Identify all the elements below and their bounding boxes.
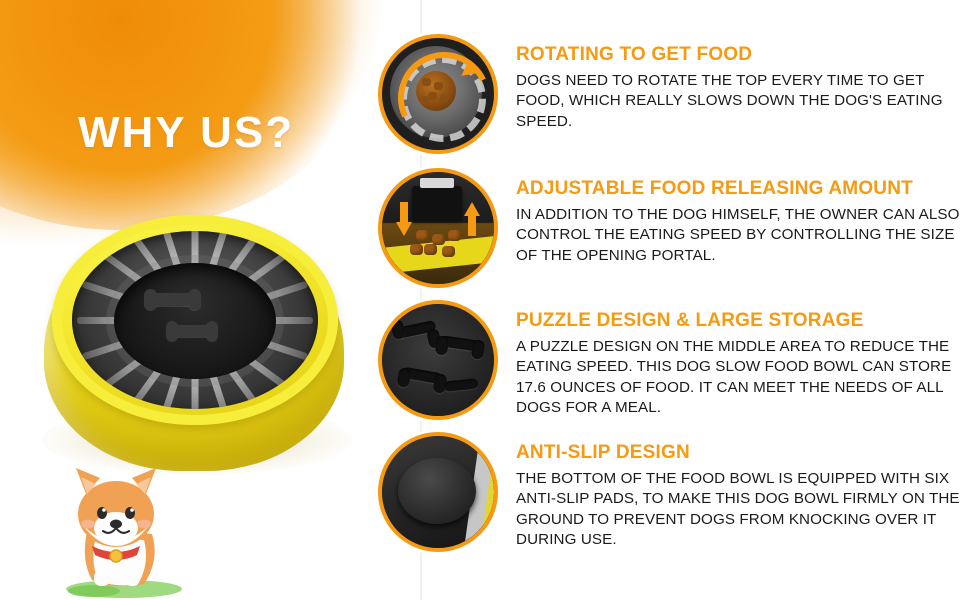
feature-body: THE BOTTOM OF THE FOOD BOWL IS EQUIPPED …: [516, 469, 966, 550]
feature-title: ROTATING TO GET FOOD: [516, 44, 966, 66]
arrow-up-icon: [464, 202, 480, 236]
feature-row: ANTI-SLIP DESIGN THE BOTTOM OF THE FOOD …: [378, 432, 966, 552]
features-list: ROTATING TO GET FOOD DOGS NEED TO ROTATE…: [378, 24, 966, 584]
rotating-lid-icon: [378, 34, 498, 154]
anti-slip-pad-icon: [378, 432, 498, 552]
feature-text: ADJUSTABLE FOOD RELEASING AMOUNT IN ADDI…: [498, 168, 966, 266]
feature-title: PUZZLE DESIGN & LARGE STORAGE: [516, 310, 966, 332]
bowl-opening: [114, 263, 276, 379]
infographic-root: WHY US?: [0, 0, 970, 600]
feature-text: ROTATING TO GET FOOD DOGS NEED TO ROTATE…: [498, 34, 966, 132]
arrow-down-icon: [396, 202, 412, 236]
adjustable-opening-icon: [378, 168, 498, 288]
page-title: WHY US?: [78, 108, 294, 158]
feature-title: ADJUSTABLE FOOD RELEASING AMOUNT: [516, 178, 966, 200]
feature-title: ANTI-SLIP DESIGN: [516, 442, 966, 464]
corgi-icon: [52, 458, 202, 598]
feature-body: IN ADDITION TO THE DOG HIMSELF, THE OWNE…: [516, 205, 966, 266]
feature-body: A PUZZLE DESIGN ON THE MIDDLE AREA TO RE…: [516, 337, 966, 418]
puzzle-bones-icon: [378, 300, 498, 420]
feature-text: PUZZLE DESIGN & LARGE STORAGE A PUZZLE D…: [498, 300, 966, 418]
left-panel: WHY US?: [0, 0, 420, 600]
feature-body: DOGS NEED TO ROTATE THE TOP EVERY TIME T…: [516, 71, 966, 132]
feature-row: ADJUSTABLE FOOD RELEASING AMOUNT IN ADDI…: [378, 168, 966, 288]
feature-text: ANTI-SLIP DESIGN THE BOTTOM OF THE FOOD …: [498, 432, 966, 550]
corgi-mascot: [52, 458, 202, 598]
feature-row: ROTATING TO GET FOOD DOGS NEED TO ROTATE…: [378, 34, 966, 154]
feature-row: PUZZLE DESIGN & LARGE STORAGE A PUZZLE D…: [378, 300, 966, 420]
